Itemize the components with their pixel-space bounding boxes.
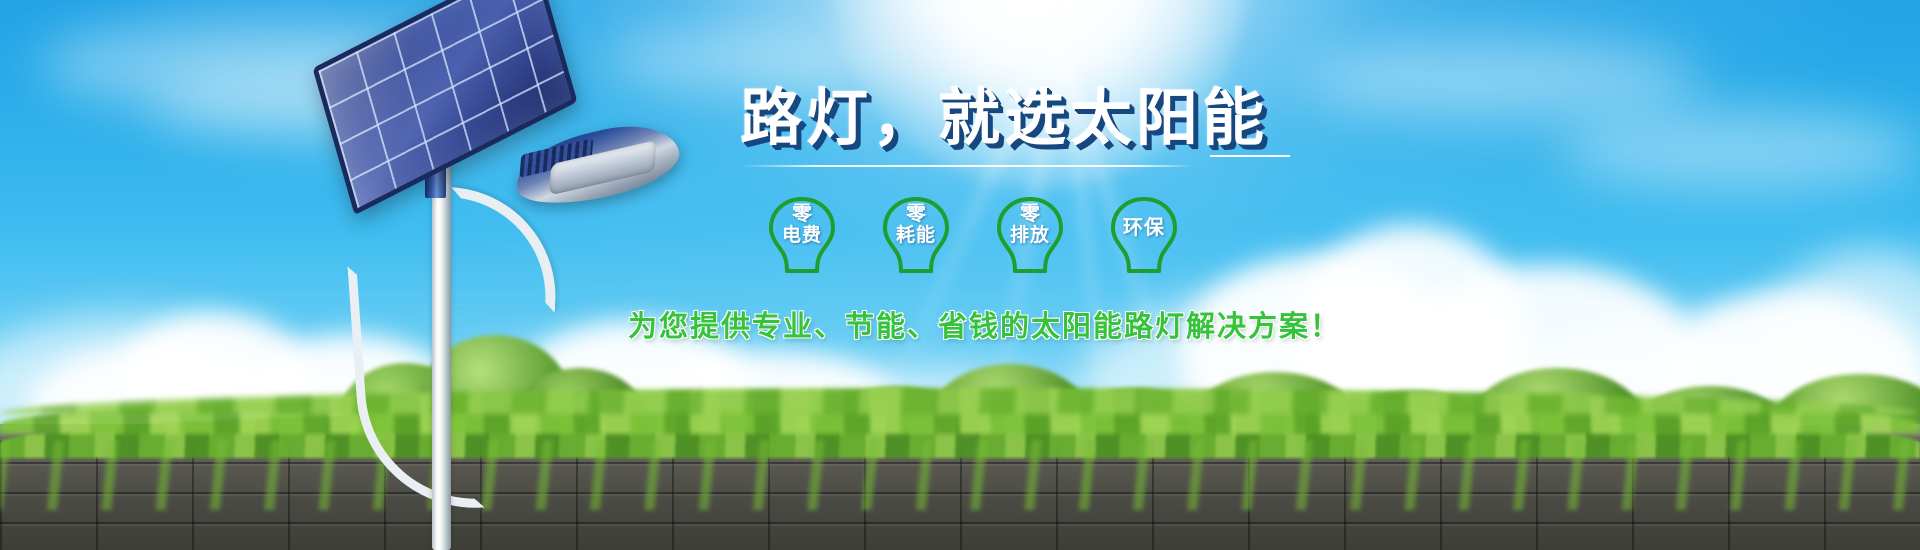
- divider: [740, 157, 1440, 175]
- feature-badge[interactable]: 零 耗能: [878, 195, 954, 281]
- cloud: [1560, 110, 1920, 190]
- badge-text: 零 电费: [764, 203, 840, 247]
- page-title: 路灯，就选太阳能: [740, 86, 1440, 151]
- badge-word: 耗能: [878, 225, 954, 246]
- badge-text: 零 耗能: [878, 203, 954, 247]
- badge-zero: 零: [992, 203, 1068, 225]
- feature-badge[interactable]: 环保: [1106, 195, 1182, 281]
- badge-zero: 零: [764, 203, 840, 225]
- solar-street-light-banner: 路灯，就选太阳能 零 电费: [0, 0, 1920, 550]
- cloud: [600, 30, 900, 90]
- wall-cap: [0, 424, 1920, 440]
- feature-badge[interactable]: 零 电费: [764, 195, 840, 281]
- feature-badge-list: 零 电费 零 耗能 零: [740, 195, 1440, 281]
- divider-line-main: [740, 165, 1195, 167]
- tagline: 为您提供专业、节能、省钱的太阳能路灯解决方案！: [628, 303, 1440, 345]
- badge-word: 电费: [764, 225, 840, 246]
- feature-badge[interactable]: 零 排放: [992, 195, 1068, 281]
- brick-wall: [0, 432, 1920, 550]
- lamp-pole: [432, 146, 451, 550]
- badge-word: 环保: [1106, 215, 1182, 241]
- badge-zero: 零: [878, 203, 954, 225]
- badge-text: 零 排放: [992, 203, 1068, 247]
- copy-block: 路灯，就选太阳能 零 电费: [740, 86, 1440, 345]
- badge-text: 环保: [1106, 215, 1182, 241]
- badge-word: 排放: [992, 225, 1068, 246]
- divider-line-short: [1210, 155, 1290, 157]
